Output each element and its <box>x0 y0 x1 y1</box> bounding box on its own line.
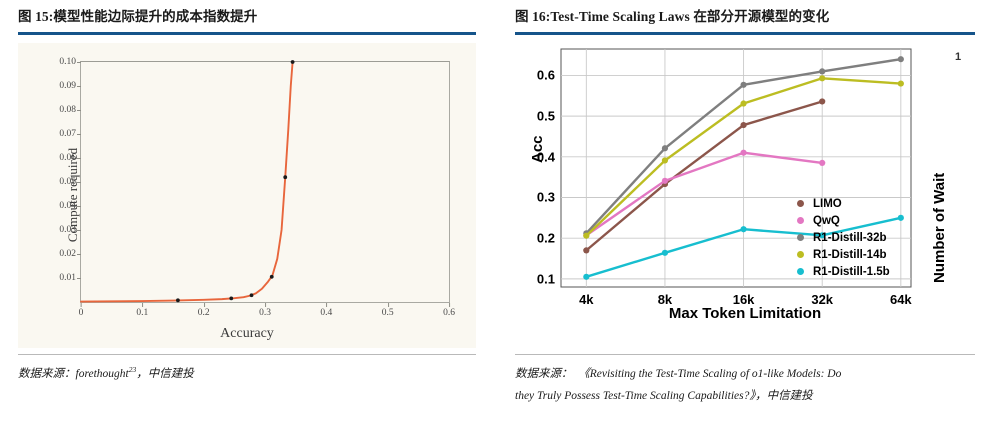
figure-15-x-tick: 0 <box>79 308 84 318</box>
figure-15-y-tick: 0.07 <box>59 129 76 139</box>
figure-16-legend-marker-icon <box>797 200 804 207</box>
figure-16-legend-label: LIMO <box>813 198 842 210</box>
figure-16-legend-marker-icon <box>797 251 804 258</box>
figure-15-data-point <box>283 175 287 179</box>
figure-pair-page: 图 15:模型性能边际提升的成本指数提升 Compute required Ac… <box>0 0 995 421</box>
figure-16-data-point <box>740 82 746 88</box>
figure-16-data-point <box>819 68 825 74</box>
figure-16-legend-item[interactable]: LIMO <box>793 197 890 211</box>
figure-16-data-point <box>740 122 746 128</box>
figure-15-source-note: 数据来源：forethought23，中信建投 <box>18 363 478 385</box>
figure-16-legend-marker-icon <box>797 268 804 275</box>
figure-15-y-tick: 0.05 <box>59 177 76 187</box>
figure-16-data-point <box>740 226 746 232</box>
figure-16-legend: LIMOQwQR1-Distill-32bR1-Distill-14bR1-Di… <box>793 197 890 279</box>
figure-15-y-tick: 0.06 <box>59 153 76 163</box>
figure-16-x-tick: 8k <box>658 292 672 307</box>
figure-15-title-rule <box>18 32 476 35</box>
figure-16-y-tick: 0.3 <box>537 190 555 205</box>
figure-15-x-tick: 0.1 <box>136 308 148 318</box>
figure-15-data-point <box>291 60 295 64</box>
figure-16-data-point <box>583 274 589 280</box>
figure-16-series-line <box>586 101 822 250</box>
figure-15-y-tick: 0.09 <box>59 81 76 91</box>
figure-15-plot-frame: 0.010.020.030.040.050.060.070.080.090.10… <box>80 61 450 303</box>
figure-16-data-point <box>898 215 904 221</box>
figure-16-legend-item[interactable]: R1-Distill-32b <box>793 231 890 245</box>
figure-16-legend-label: R1-Distill-32b <box>813 232 887 244</box>
figure-15-data-point <box>229 296 233 300</box>
figure-15-data-point <box>270 275 274 279</box>
figure-15-y-tick: 0.03 <box>59 225 76 235</box>
figure-16-data-point <box>898 80 904 86</box>
figure-16-y-tick: 0.1 <box>537 271 555 286</box>
figure-15-y-tick: 0.01 <box>59 273 76 283</box>
figure-15-panel: 图 15:模型性能边际提升的成本指数提升 Compute required Ac… <box>0 0 497 421</box>
figure-16-x-axis-label: Max Token Limitation <box>555 305 935 322</box>
figure-16-y-tick: 0.6 <box>537 68 555 83</box>
figure-15-x-tick: 0.4 <box>320 308 332 318</box>
figure-16-secondary-y-axis-label: Number of Wait <box>931 173 948 283</box>
figure-15-data-point <box>250 293 254 297</box>
figure-16-data-point <box>819 160 825 166</box>
figure-16-x-tick: 4k <box>579 292 593 307</box>
figure-15-y-tick: 0.08 <box>59 105 76 115</box>
figure-15-y-tick: 0.02 <box>59 249 76 259</box>
figure-16-legend-marker-icon <box>797 217 804 224</box>
figure-16-y-tick: 0.5 <box>537 108 555 123</box>
figure-16-legend-item[interactable]: R1-Distill-14b <box>793 248 890 262</box>
figure-15-y-tick: 0.04 <box>59 201 76 211</box>
figure-15-source-name: forethought <box>76 368 129 380</box>
figure-15-canvas: Compute required Accuracy 0.010.020.030.… <box>18 43 476 348</box>
figure-15-source-suffix: ，中信建投 <box>136 368 194 380</box>
figure-16-legend-label: R1-Distill-14b <box>813 249 887 261</box>
figure-16-x-tick: 64k <box>890 292 912 307</box>
figure-15-y-tick: 0.10 <box>59 57 76 67</box>
figure-15-compute-curve <box>81 62 293 302</box>
figure-16-plot-frame: LIMOQwQR1-Distill-32bR1-Distill-14bR1-Di… <box>561 49 911 287</box>
figure-15-source-separator <box>18 354 476 355</box>
figure-15-x-tick: 0.6 <box>443 308 455 318</box>
figure-15-x-tick: 0.3 <box>259 308 271 318</box>
figure-16-data-point <box>662 250 668 256</box>
figure-16-canvas: Acc Max Token Limitation Number of Wait … <box>515 43 975 348</box>
figure-15-title: 图 15:模型性能边际提升的成本指数提升 <box>18 0 497 25</box>
figure-15-source-prefix: 数据来源： <box>18 368 76 380</box>
figure-16-chart-area: Acc Max Token Limitation Number of Wait … <box>515 43 994 348</box>
figure-16-legend-marker-icon <box>797 234 804 241</box>
figure-15-data-point <box>176 298 180 302</box>
figure-16-legend-label: QwQ <box>813 215 840 227</box>
figure-16-data-point <box>662 178 668 184</box>
figure-15-curve-svg <box>81 62 449 302</box>
figure-16-title-rule <box>515 32 975 35</box>
figure-16-legend-item[interactable]: R1-Distill-1.5b <box>793 265 890 279</box>
figure-16-y-tick: 0.4 <box>537 149 555 164</box>
figure-16-data-point <box>819 98 825 104</box>
figure-16-data-point <box>662 157 668 163</box>
figure-16-data-point <box>898 56 904 62</box>
figure-15-x-tick: 0.2 <box>198 308 210 318</box>
figure-16-source-line-2: they Truly Possess Test-Time Scaling Cap… <box>515 385 975 407</box>
figure-16-panel: 图 16:Test-Time Scaling Laws 在部分开源模型的变化 A… <box>497 0 994 421</box>
figure-16-x-tick: 32k <box>811 292 833 307</box>
figure-16-data-point <box>662 145 668 151</box>
figure-16-legend-label: R1-Distill-1.5b <box>813 266 890 278</box>
figure-15-chart-area: Compute required Accuracy 0.010.020.030.… <box>18 43 497 348</box>
figure-16-data-point <box>583 232 589 238</box>
figure-16-source-line-1: 数据来源： 《Revisiting the Test-Time Scaling … <box>515 363 975 385</box>
figure-16-data-point <box>583 247 589 253</box>
figure-15-x-tick: 0.5 <box>382 308 394 318</box>
figure-16-title: 图 16:Test-Time Scaling Laws 在部分开源模型的变化 <box>515 0 994 25</box>
figure-16-edge-tick-label: 1 <box>955 51 961 63</box>
figure-16-x-tick: 16k <box>733 292 755 307</box>
figure-16-data-point <box>819 75 825 81</box>
figure-16-data-point <box>740 100 746 106</box>
figure-16-data-point <box>740 149 746 155</box>
figure-16-legend-item[interactable]: QwQ <box>793 214 890 228</box>
figure-16-source-note: 数据来源： 《Revisiting the Test-Time Scaling … <box>515 363 975 408</box>
figure-15-x-axis-label: Accuracy <box>18 326 476 342</box>
figure-16-source-separator <box>515 354 975 355</box>
figure-16-y-tick: 0.2 <box>537 231 555 246</box>
